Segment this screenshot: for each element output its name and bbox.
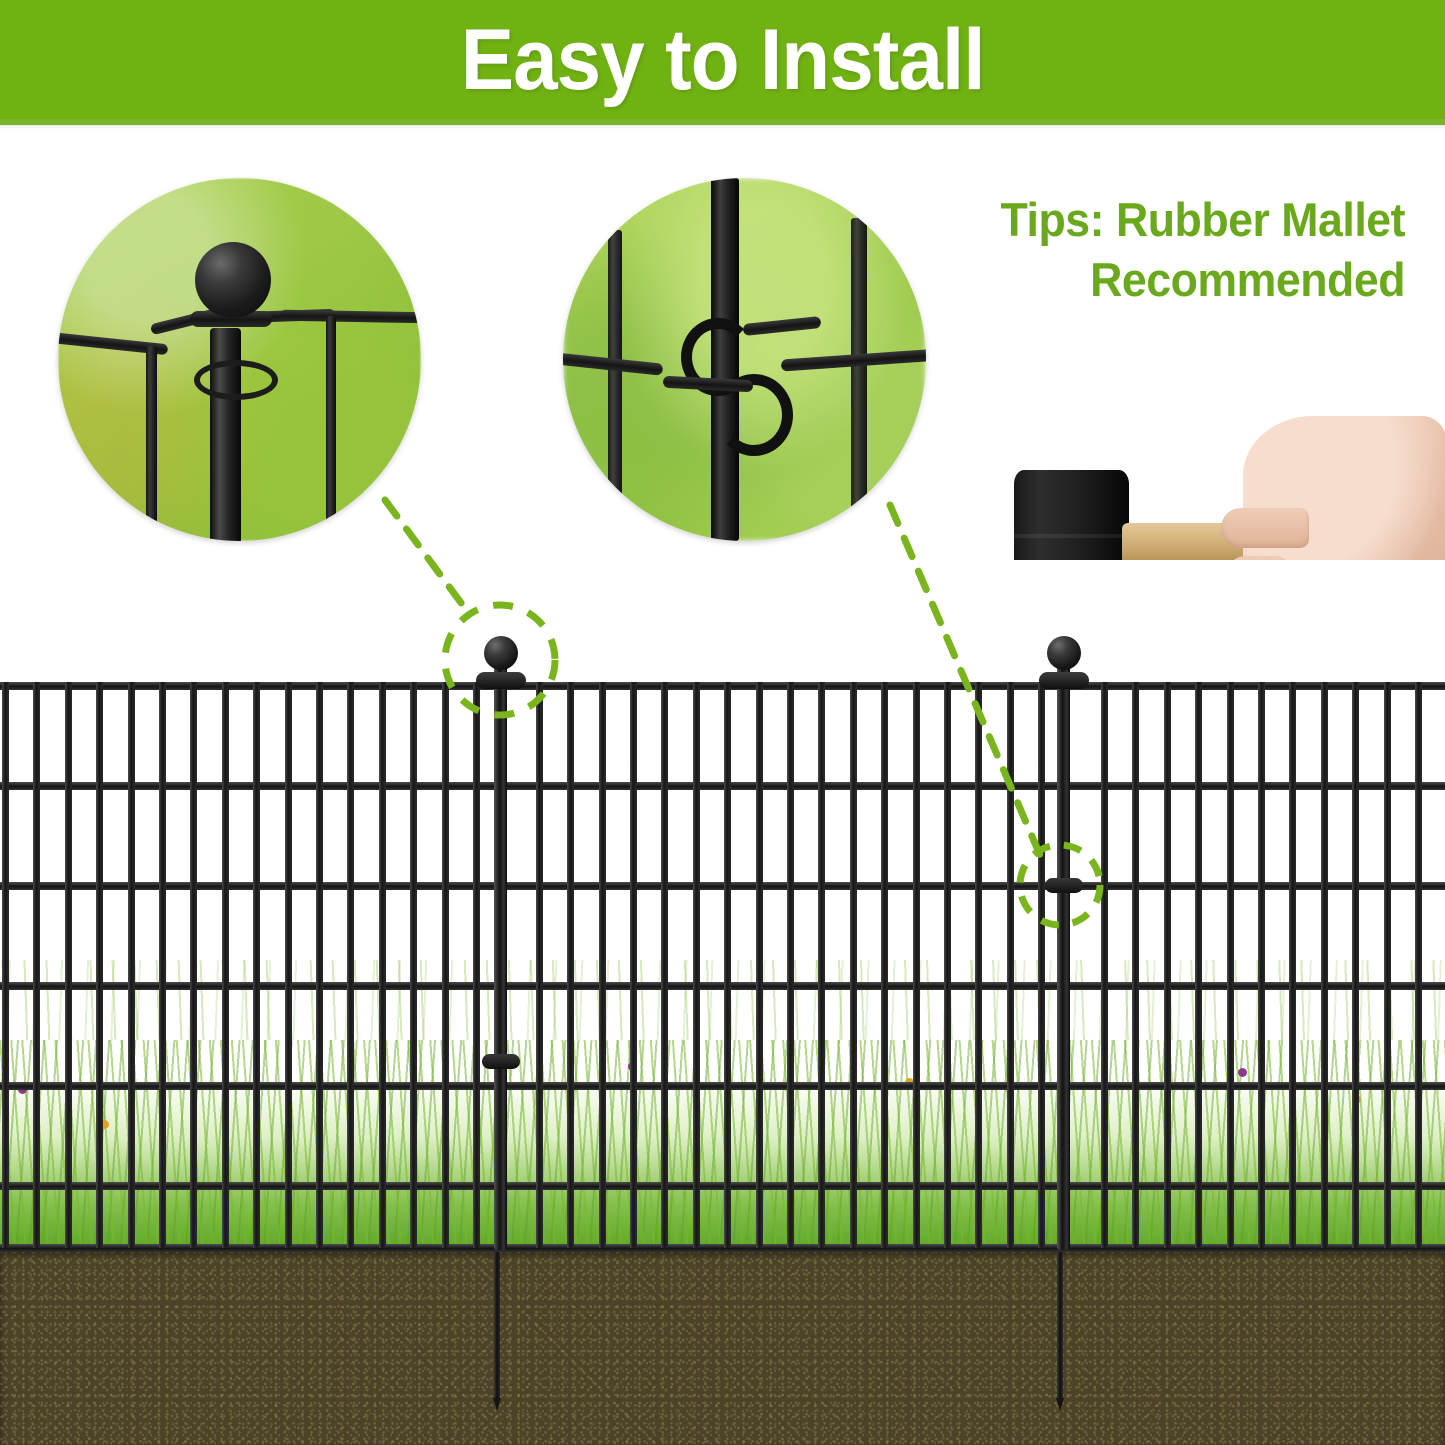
post-cap <box>476 672 526 689</box>
fence-bar <box>1289 682 1296 1248</box>
thumb <box>1221 508 1309 548</box>
ground-stake <box>1057 1250 1063 1398</box>
post-cap <box>1039 672 1089 689</box>
fence-bar <box>1227 682 1234 1248</box>
fence-bar <box>379 682 386 1248</box>
fence-bar <box>567 682 574 1248</box>
product-infographic: Easy to Install Tips: Rubber Mallet Reco… <box>0 0 1445 1445</box>
fence-bar <box>536 682 543 1248</box>
fence-bar <box>599 682 606 1248</box>
fence-bar <box>442 682 449 1248</box>
fence-scene <box>0 560 1445 1445</box>
fence-bar <box>661 682 668 1248</box>
closeup-collar-ring <box>194 360 278 400</box>
fence-bar <box>2 682 9 1248</box>
fence-bar <box>347 682 354 1248</box>
ball-finial <box>484 636 518 670</box>
flower-purple <box>1238 1068 1247 1077</box>
fence-bar <box>159 682 166 1248</box>
fence-bar <box>1352 682 1359 1248</box>
fence-bar <box>473 682 480 1248</box>
soil-layer <box>0 1250 1445 1445</box>
finial-detail-circle <box>58 178 421 541</box>
fence-bar <box>1321 682 1328 1248</box>
closeup-wire-left <box>146 346 157 541</box>
fence-bar <box>190 682 197 1248</box>
fence-bar <box>1195 682 1202 1248</box>
connector-detail-circle <box>563 178 926 541</box>
fence-bar <box>285 682 292 1248</box>
fence-bar <box>787 682 794 1248</box>
fence-bar <box>975 682 982 1248</box>
fence-bar <box>33 682 40 1248</box>
fence-bar <box>253 682 260 1248</box>
fence-bar <box>1101 682 1108 1248</box>
panel-connector <box>1045 878 1083 893</box>
fence-bar <box>756 682 763 1248</box>
fence-bar <box>944 682 951 1248</box>
closeup-bar-left <box>608 230 622 530</box>
banner-shadow <box>0 125 1445 129</box>
ball-finial <box>1047 636 1081 670</box>
ground-stake <box>494 1250 500 1398</box>
fence-bar <box>1164 682 1171 1248</box>
fence-bar <box>724 682 731 1248</box>
fence-bar <box>1007 682 1014 1248</box>
fence-bar <box>128 682 135 1248</box>
fence-post <box>1057 660 1070 1250</box>
fence-bar <box>913 682 920 1248</box>
fence-bar <box>96 682 103 1248</box>
header-banner: Easy to Install <box>0 0 1445 119</box>
fence-bar <box>1038 682 1045 1248</box>
fence-bar <box>881 682 888 1248</box>
panel-connector <box>482 1054 520 1069</box>
tips-line-2: Recommended <box>959 250 1406 310</box>
fence-bar <box>222 682 229 1248</box>
closeup-wire-right <box>326 316 336 541</box>
fence-bar <box>693 682 700 1248</box>
page-title: Easy to Install <box>461 17 985 103</box>
tips-line-1: Tips: Rubber Mallet <box>959 190 1406 250</box>
fence-bar <box>850 682 857 1248</box>
fence-bar <box>1415 682 1422 1248</box>
fence-bar <box>410 682 417 1248</box>
fence-post <box>494 660 507 1250</box>
fence-bar <box>65 682 72 1248</box>
fence-bar <box>1132 682 1139 1248</box>
tips-text: Tips: Rubber Mallet Recommended <box>959 190 1406 310</box>
fence-bar <box>316 682 323 1248</box>
fence-bar <box>1384 682 1391 1248</box>
fence-bar <box>630 682 637 1248</box>
closeup-ball-finial <box>195 242 271 318</box>
fence-bar <box>1258 682 1265 1248</box>
fence-bar <box>818 682 825 1248</box>
closeup-bar-right <box>851 218 867 533</box>
